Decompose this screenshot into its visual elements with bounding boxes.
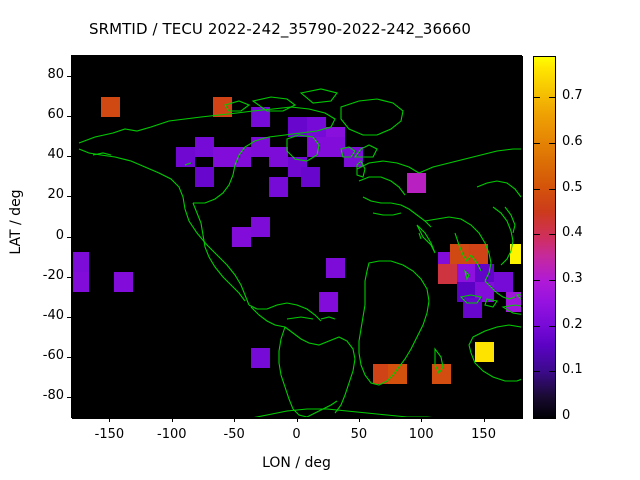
- x-tick: [234, 417, 235, 422]
- y-axis-label: LAT / deg: [8, 162, 24, 282]
- y-tick: [67, 317, 72, 318]
- y-tick: [67, 237, 72, 238]
- y-tick-label: 40: [18, 147, 64, 162]
- y-tick-label: 80: [18, 67, 64, 82]
- coastline-layer: [73, 57, 522, 418]
- y-tick-label: -60: [18, 348, 64, 363]
- colorbar-tick: [534, 97, 540, 98]
- page-title: SRMTID / TECU 2022-242_35790-2022-242_36…: [0, 20, 560, 38]
- x-tick: [297, 417, 298, 422]
- colorbar-tick: [549, 280, 555, 281]
- colorbar-tick: [534, 234, 540, 235]
- x-tick: [172, 417, 173, 422]
- colorbar-tick-label: 0.5: [562, 180, 583, 195]
- colorbar-tick: [534, 371, 540, 372]
- y-tick: [67, 156, 72, 157]
- colorbar-tick-label: 0.6: [562, 134, 583, 149]
- colorbar[interactable]: [533, 56, 556, 419]
- y-tick: [67, 397, 72, 398]
- y-tick: [67, 277, 72, 278]
- y-tick: [67, 76, 72, 77]
- x-tick-label: 100: [391, 427, 451, 442]
- colorbar-tick-label: 0.2: [562, 317, 583, 332]
- colorbar-tick: [549, 371, 555, 372]
- colorbar-tick: [534, 280, 540, 281]
- colorbar-tick-label: 0.7: [562, 88, 583, 103]
- x-tick: [484, 417, 485, 422]
- y-tick-label: -20: [18, 268, 64, 283]
- y-tick: [67, 357, 72, 358]
- colorbar-tick: [549, 97, 555, 98]
- x-tick-label: 50: [329, 427, 389, 442]
- x-tick: [359, 417, 360, 422]
- colorbar-tick-label: 0: [562, 408, 570, 423]
- y-tick: [67, 116, 72, 117]
- colorbar-tick: [534, 189, 540, 190]
- x-tick-label: 150: [454, 427, 514, 442]
- colorbar-tick-label: 0.3: [562, 271, 583, 286]
- x-tick-label: -50: [204, 427, 264, 442]
- x-tick-label: -100: [142, 427, 202, 442]
- x-tick: [421, 417, 422, 422]
- x-tick-label: 0: [267, 427, 327, 442]
- x-tick-label: -150: [79, 427, 139, 442]
- y-tick-label: 60: [18, 107, 64, 122]
- x-axis-label: LON / deg: [72, 455, 521, 471]
- map-plot-area[interactable]: [72, 56, 523, 419]
- colorbar-tick-label: 0.1: [562, 362, 583, 377]
- colorbar-tick: [534, 143, 540, 144]
- y-tick-label: -80: [18, 388, 64, 403]
- y-tick-label: -40: [18, 308, 64, 323]
- y-tick: [67, 196, 72, 197]
- y-tick-label: 0: [18, 228, 64, 243]
- colorbar-tick: [549, 189, 555, 190]
- tec-map-figure: SRMTID / TECU 2022-242_35790-2022-242_36…: [0, 0, 640, 480]
- colorbar-tick: [549, 143, 555, 144]
- colorbar-tick: [549, 417, 555, 418]
- colorbar-tick: [534, 326, 540, 327]
- colorbar-tick: [549, 234, 555, 235]
- colorbar-tick-label: 0.4: [562, 225, 583, 240]
- colorbar-tick: [549, 326, 555, 327]
- colorbar-tick: [534, 417, 540, 418]
- y-tick-label: 20: [18, 187, 64, 202]
- x-tick: [109, 417, 110, 422]
- colorbar-gradient: [534, 57, 555, 418]
